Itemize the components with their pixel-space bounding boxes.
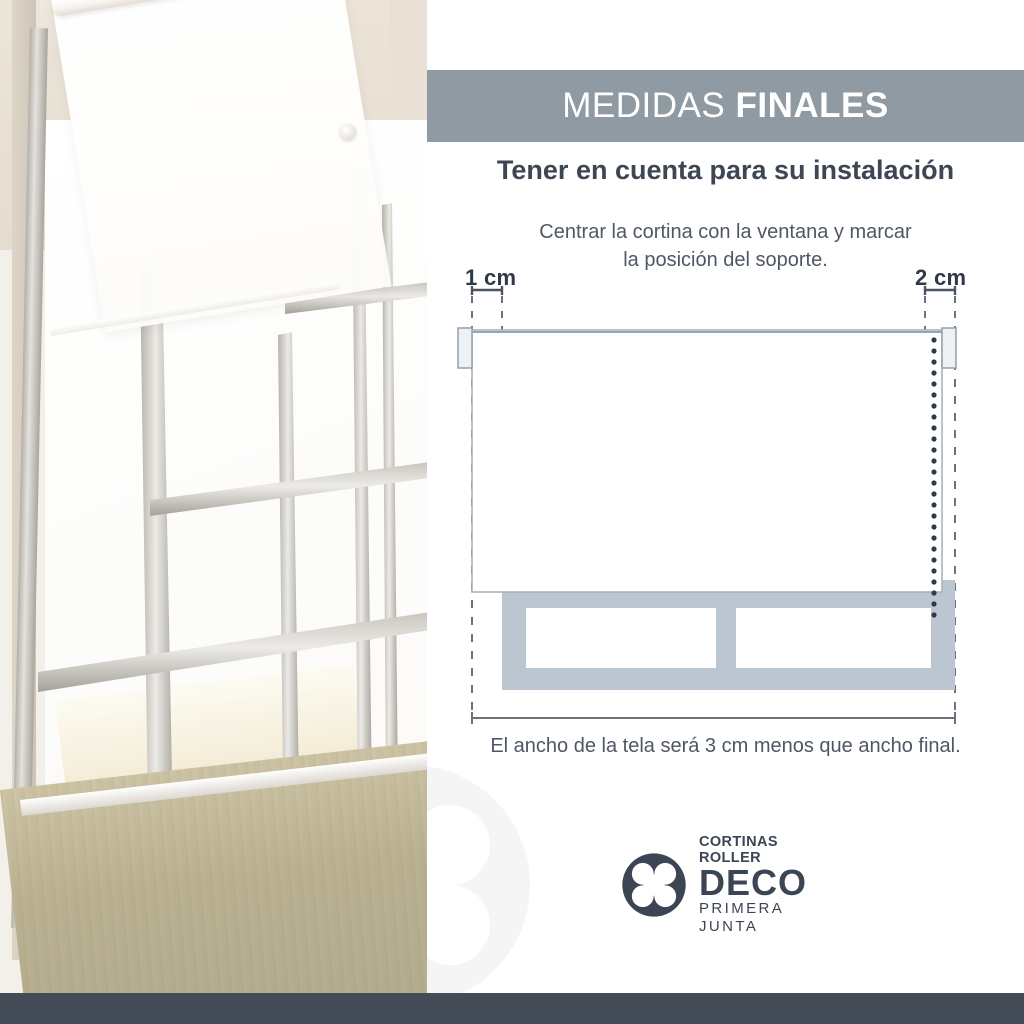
header-banner: MEDIDAS FINALES: [427, 70, 1024, 142]
instruction-line-1: Centrar la cortina con la ventana y marc…: [427, 218, 1024, 246]
gap-tick-left: [472, 286, 502, 295]
brand-logo-line-bottom: PRIMERA JUNTA: [699, 900, 831, 936]
info-panel: MEDIDAS FINALES Tener en cuenta para su …: [427, 0, 1024, 993]
bracket-left: [458, 328, 472, 368]
gap-extension-lines: [472, 296, 955, 330]
brand-logo-icon: [621, 852, 687, 918]
gap-tick-right: [925, 286, 955, 295]
header-title-light: MEDIDAS: [562, 86, 735, 125]
brand-logo: CORTINAS ROLLER DECO PRIMERA JUNTA: [621, 845, 831, 925]
poster-canvas: MEDIDAS FINALES Tener en cuenta para su …: [0, 0, 1024, 1024]
brand-logo-line-middle: DECO: [699, 866, 831, 900]
page-subtitle: Tener en cuenta para su instalación: [427, 155, 1024, 186]
footer-bar: [0, 993, 1024, 1024]
header-title-bold: FINALES: [735, 86, 888, 125]
photo-roller-fabric: [50, 0, 391, 333]
watermark-logo-icon: [427, 760, 535, 993]
blind-fabric: [472, 330, 942, 592]
bottom-note: El ancho de la tela será 3 cm menos que …: [427, 735, 1024, 758]
installation-diagram: [427, 250, 1024, 740]
photo-roller-end-cap: [340, 124, 356, 140]
brand-logo-text: CORTINAS ROLLER DECO PRIMERA JUNTA: [699, 834, 831, 936]
overall-width-dimension-line: [472, 712, 955, 724]
bracket-right: [942, 328, 956, 368]
header-title: MEDIDAS FINALES: [562, 86, 888, 126]
product-photo: [0, 0, 427, 993]
window-frame-shape: [502, 580, 955, 690]
